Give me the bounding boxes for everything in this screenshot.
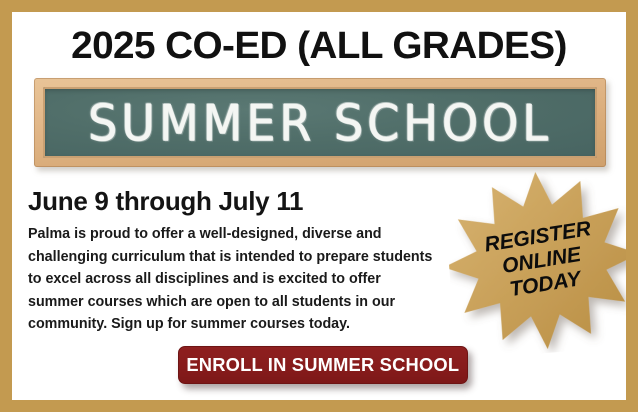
register-badge[interactable]: REGISTER ONLINE TODAY	[449, 168, 626, 353]
page-title: 2025 CO-ED (ALL GRADES)	[12, 24, 626, 68]
chalkboard-text: SUMMER SCHOOL	[43, 87, 597, 158]
date-heading: June 9 through July 11	[28, 186, 303, 216]
enroll-button[interactable]: ENROLL IN SUMMER SCHOOL	[178, 346, 468, 384]
chalkboard-surface: SUMMER SCHOOL	[43, 87, 597, 158]
starburst-icon	[443, 162, 626, 359]
cta-area: ENROLL IN SUMMER SCHOOL	[178, 346, 468, 384]
chalkboard-graphic: SUMMER SCHOOL	[34, 78, 606, 167]
enroll-button-label: ENROLL IN SUMMER SCHOOL	[187, 354, 460, 376]
summer-school-flyer: 2025 CO-ED (ALL GRADES) SUMMER SCHOOL Ju…	[0, 0, 638, 412]
flyer-content-area: 2025 CO-ED (ALL GRADES) SUMMER SCHOOL Ju…	[12, 12, 626, 400]
chalkboard-frame: SUMMER SCHOOL	[34, 78, 606, 167]
body-paragraph: Palma is proud to offer a well-designed,…	[28, 223, 438, 336]
